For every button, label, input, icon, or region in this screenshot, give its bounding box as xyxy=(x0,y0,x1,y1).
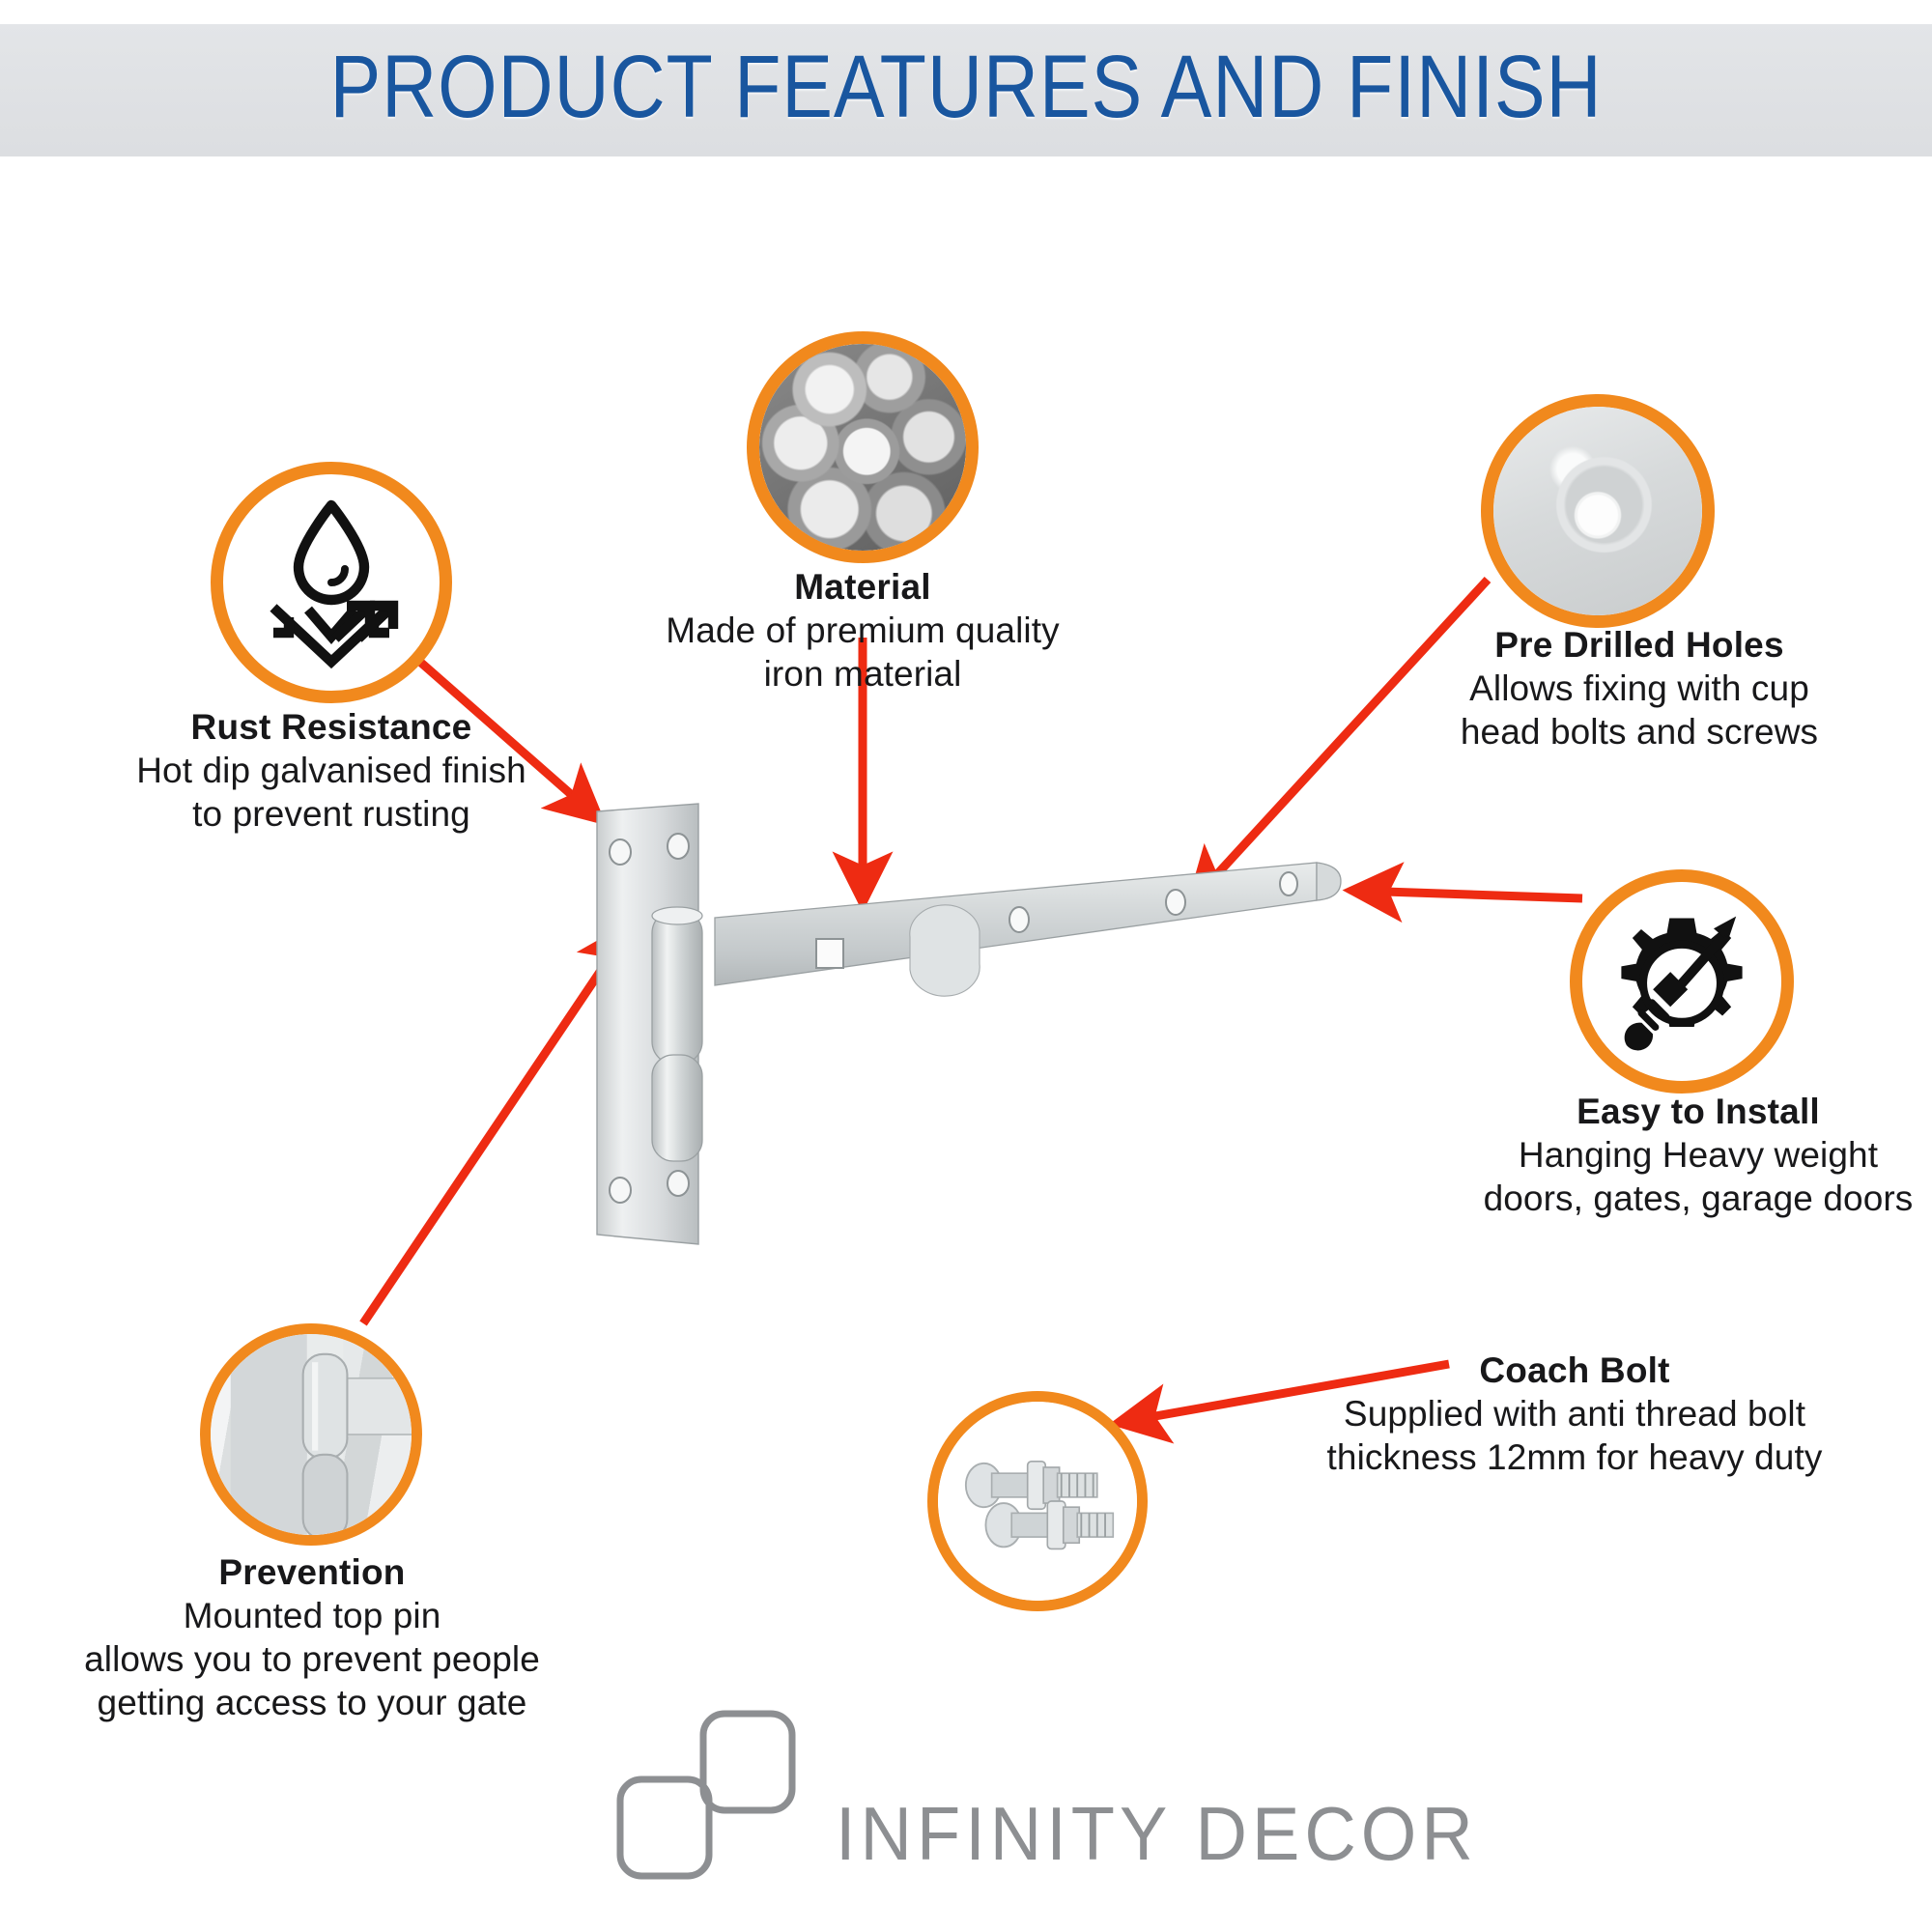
feature-caption-material: Material Made of premium quality iron ma… xyxy=(607,565,1119,696)
feature-desc-line: thickness 12mm for heavy duty xyxy=(1256,1435,1893,1479)
feature-desc-line: Supplied with anti thread bolt xyxy=(1256,1392,1893,1435)
feature-desc-line: Made of premium quality xyxy=(607,609,1119,652)
feature-icon-material xyxy=(747,331,979,563)
coach-bolts-photo xyxy=(938,1402,1137,1601)
feature-title: Coach Bolt xyxy=(1256,1349,1893,1392)
strap-hole xyxy=(1166,890,1185,915)
strap-hole xyxy=(1009,907,1029,932)
feature-desc-line: Hanging Heavy weight xyxy=(1457,1133,1932,1177)
feature-desc-line: Hot dip galvanised finish xyxy=(61,749,602,792)
feature-title: Rust Resistance xyxy=(61,705,602,749)
product-image-gate-hinge xyxy=(570,792,1372,1256)
feature-desc-line: Allows fixing with cup xyxy=(1383,667,1895,710)
feature-title: Pre Drilled Holes xyxy=(1383,623,1895,667)
square-hole xyxy=(816,939,843,968)
feature-title: Prevention xyxy=(46,1550,578,1594)
arrow-easy-to-install xyxy=(1356,891,1582,898)
feature-icon-prevention xyxy=(200,1323,422,1546)
feature-icon-rust-resistance xyxy=(211,462,452,703)
drilled-hole-photo xyxy=(1493,407,1702,615)
feature-desc-line: allows you to prevent people xyxy=(46,1637,578,1681)
feature-icon-coach-bolt xyxy=(927,1391,1148,1611)
feature-caption-coach-bolt: Coach Bolt Supplied with anti thread bol… xyxy=(1256,1349,1893,1479)
feature-desc-line: Mounted top pin xyxy=(46,1594,578,1637)
feature-desc-line: to prevent rusting xyxy=(61,792,602,836)
feature-desc-line: iron material xyxy=(607,652,1119,696)
bolt-upper xyxy=(966,1462,1097,1509)
feature-icon-pre-drilled-holes xyxy=(1481,394,1715,628)
brand-logo: INFINITY DECOR xyxy=(599,1700,1352,1913)
feature-title: Material xyxy=(607,565,1119,609)
hinge-pin-photo xyxy=(211,1334,412,1535)
feature-caption-prevention: Prevention Mounted top pin allows you to… xyxy=(46,1550,578,1724)
iron-chunks-photo xyxy=(759,344,966,551)
feature-desc-line: getting access to your gate xyxy=(46,1681,578,1724)
feature-caption-rust-resistance: Rust Resistance Hot dip galvanised finis… xyxy=(61,705,602,836)
strap-hole xyxy=(1280,872,1297,895)
feature-caption-easy-to-install: Easy to Install Hanging Heavy weight doo… xyxy=(1457,1090,1932,1220)
brand-logo-text: INFINITY DECOR xyxy=(836,1795,1478,1874)
feature-icon-easy-to-install xyxy=(1570,869,1794,1094)
bolt-lower xyxy=(985,1501,1113,1548)
two-rounded-squares-icon xyxy=(620,1714,792,1876)
feature-desc-line: doors, gates, garage doors xyxy=(1457,1177,1932,1220)
feature-desc-line: head bolts and screws xyxy=(1383,710,1895,753)
feature-title: Easy to Install xyxy=(1457,1090,1932,1133)
hinge-pin xyxy=(652,907,702,1161)
hinge-strap xyxy=(715,863,1341,996)
feature-caption-pre-drilled-holes: Pre Drilled Holes Allows fixing with cup… xyxy=(1383,623,1895,753)
water-drop-icon xyxy=(298,505,364,600)
